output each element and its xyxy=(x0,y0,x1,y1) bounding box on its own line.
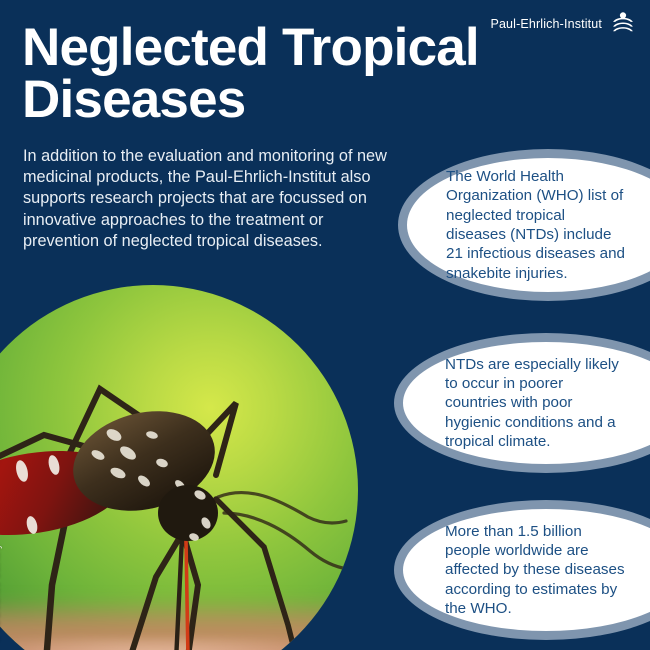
page-title: Neglected Tropical Diseases xyxy=(22,22,562,127)
infographic-poster: Paul-Ehrlich-Institut Neglected Tropical… xyxy=(0,0,650,650)
photo-background xyxy=(0,285,358,650)
page-title-line-1: Neglected Tropical xyxy=(22,22,562,74)
fact-bubble-1-text: The World Health Organization (WHO) list… xyxy=(407,167,650,283)
mosquito-illustration xyxy=(0,285,358,650)
brand-name: Paul-Ehrlich-Institut xyxy=(490,17,602,31)
fact-bubble-2-text: NTDs are especially likely to occur in p… xyxy=(403,355,650,451)
page-title-line-2: Diseases xyxy=(22,74,562,126)
photo-credit: © CDC/James Gathany xyxy=(0,544,2,642)
fact-bubble-3: More than 1.5 billion people worldwide a… xyxy=(394,500,650,640)
brand-logo: Paul-Ehrlich-Institut xyxy=(490,11,636,37)
mosquito-photo xyxy=(0,285,358,650)
intro-paragraph: In addition to the evaluation and monito… xyxy=(23,146,391,252)
fact-bubble-1: The World Health Organization (WHO) list… xyxy=(398,149,650,301)
fact-bubble-3-text: More than 1.5 billion people worldwide a… xyxy=(403,522,650,618)
pei-bow-logo-icon xyxy=(610,11,636,37)
fact-bubble-2: NTDs are especially likely to occur in p… xyxy=(394,333,650,473)
